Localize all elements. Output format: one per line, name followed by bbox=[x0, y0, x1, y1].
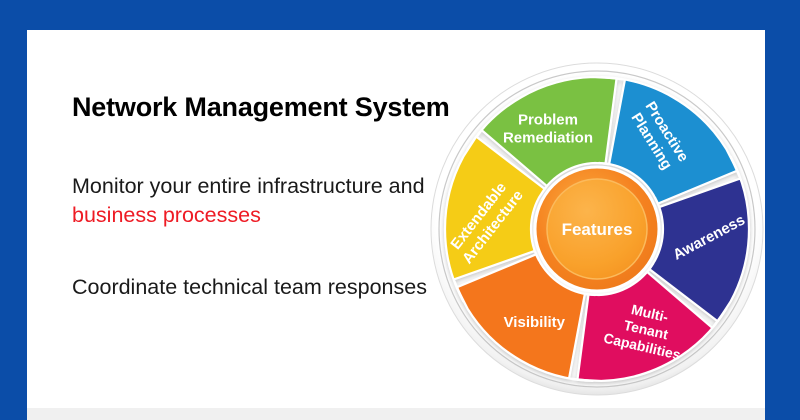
paragraph-1-lead: Monitor your entire infrastructure and bbox=[72, 174, 425, 198]
panel-footer-strip bbox=[27, 408, 765, 420]
content-panel: Network Management System Monitor your e… bbox=[27, 30, 765, 408]
page-title: Network Management System bbox=[72, 92, 450, 123]
body-paragraph-1: Monitor your entire infrastructure and b… bbox=[72, 172, 467, 230]
features-wheel-svg: ProblemRemediationProactivePlanningAware… bbox=[430, 62, 764, 396]
wheel-segment-label-line: Visibility bbox=[504, 314, 566, 331]
text-column: Network Management System Monitor your e… bbox=[72, 30, 472, 408]
wheel-segment-label-line: Remediation bbox=[503, 130, 593, 147]
wheel-segment-label-line: Problem bbox=[518, 112, 578, 129]
wheel-segment-label: Visibility bbox=[504, 314, 566, 331]
features-wheel-diagram: ProblemRemediationProactivePlanningAware… bbox=[430, 62, 764, 396]
paragraph-1-highlight: business processes bbox=[72, 203, 261, 227]
slide-root: Network Management System Monitor your e… bbox=[0, 0, 800, 420]
center-label: Features bbox=[562, 220, 633, 239]
body-paragraph-2: Coordinate technical team responses bbox=[72, 273, 467, 302]
paragraph-2-lead: Coordinate technical team responses bbox=[72, 275, 427, 299]
